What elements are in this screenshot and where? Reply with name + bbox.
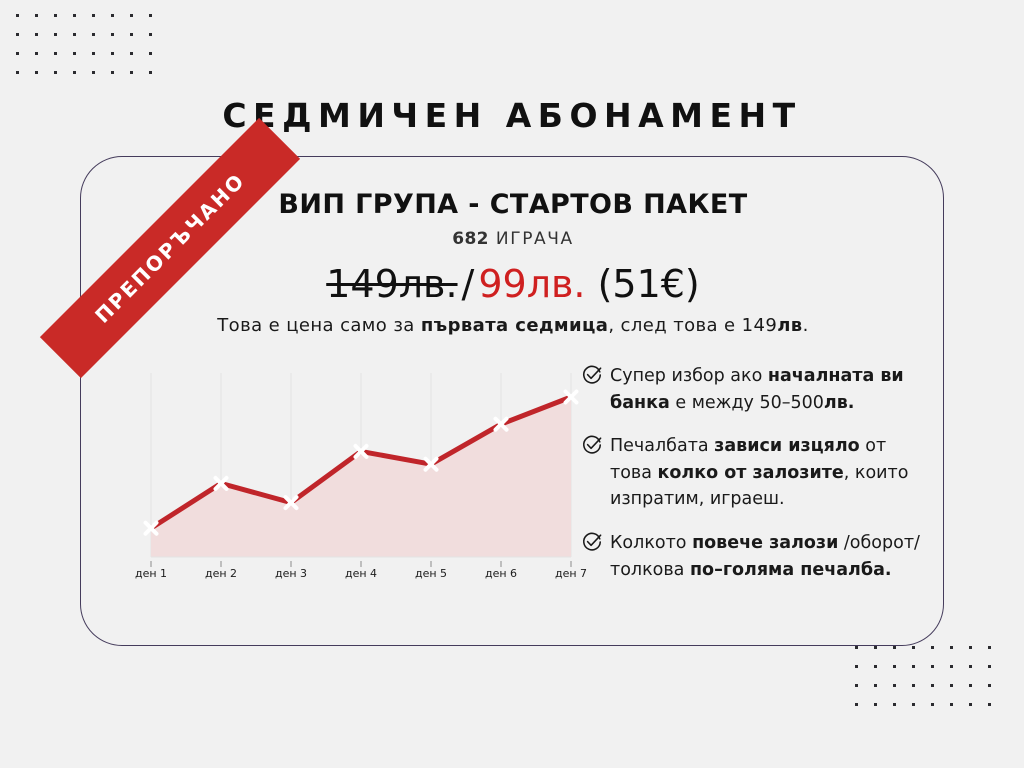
decorative-dot xyxy=(931,684,934,687)
decorative-dot xyxy=(912,665,915,668)
price-euro: (51€) xyxy=(598,262,700,306)
feature-item: Печалбата зависи изцяло от това колко от… xyxy=(581,433,921,513)
decorative-dot xyxy=(950,684,953,687)
decorative-dot xyxy=(16,71,19,74)
decorative-dot xyxy=(54,33,57,36)
price-note-bold1: първата седмица xyxy=(421,315,608,336)
price-note: Това е цена само за първата седмица, сле… xyxy=(81,315,945,336)
circled-check-icon xyxy=(581,531,603,553)
decorative-dot xyxy=(931,703,934,706)
price-new: 99лв. xyxy=(478,262,585,306)
chart-x-label: ден 5 xyxy=(415,567,447,580)
chart-x-label: ден 4 xyxy=(345,567,377,580)
decorative-dot xyxy=(893,665,896,668)
feature-text: Супер избор ако началната ви банка е меж… xyxy=(610,363,921,416)
feature-text-emphasis: лв. xyxy=(824,393,855,413)
feature-text-emphasis: колко от залозите xyxy=(658,463,844,483)
decorative-dot xyxy=(855,665,858,668)
decorative-dot xyxy=(130,52,133,55)
card-title: ВИП ГРУПА - СТАРТОВ ПАКЕТ xyxy=(81,189,945,220)
decorative-dot xyxy=(73,14,76,17)
decorative-dot xyxy=(969,684,972,687)
decorative-dot xyxy=(35,52,38,55)
decorative-dot xyxy=(855,703,858,706)
decorative-dot xyxy=(874,684,877,687)
decorative-dot xyxy=(54,52,57,55)
decorative-dot xyxy=(874,665,877,668)
decorative-dot xyxy=(931,665,934,668)
decorative-dot xyxy=(16,52,19,55)
decorative-dot xyxy=(931,646,934,649)
decorative-dot xyxy=(35,33,38,36)
price-note-part2: , след това е 149 xyxy=(608,315,777,336)
price-row: 149лв./99лв. (51€) xyxy=(81,262,945,306)
growth-chart-svg xyxy=(129,371,589,571)
decorative-dot xyxy=(893,703,896,706)
decorative-dot xyxy=(35,14,38,17)
decorative-dot xyxy=(92,14,95,17)
decorative-dot xyxy=(893,646,896,649)
circled-check-icon xyxy=(581,364,603,386)
decorative-dot xyxy=(855,684,858,687)
decorative-dot xyxy=(149,33,152,36)
decorative-dot xyxy=(969,646,972,649)
decorative-dot xyxy=(988,684,991,687)
decorative-dot xyxy=(16,14,19,17)
decorative-dot xyxy=(130,14,133,17)
feature-text-emphasis: по–голяма печалба. xyxy=(690,560,892,580)
decorative-dot xyxy=(111,52,114,55)
pricing-card: ПРЕПОРЪЧАНО ВИП ГРУПА - СТАРТОВ ПАКЕТ 68… xyxy=(80,156,944,646)
feature-list: Супер избор ако началната ви банка е меж… xyxy=(581,363,921,600)
feature-text-emphasis: зависи изцяло xyxy=(714,436,860,456)
decorative-dot xyxy=(988,703,991,706)
decorative-dot xyxy=(149,14,152,17)
decorative-dot xyxy=(950,703,953,706)
decorative-dot xyxy=(893,684,896,687)
feature-text-plain: Печалбата xyxy=(610,436,714,456)
decorative-dot xyxy=(111,71,114,74)
feature-text-plain: Супер избор ако xyxy=(610,366,768,386)
chart-x-label: ден 3 xyxy=(275,567,307,580)
decorative-dot xyxy=(874,646,877,649)
decorative-dot xyxy=(874,703,877,706)
decorative-dot xyxy=(111,14,114,17)
decorative-dot xyxy=(130,33,133,36)
chart-x-label: ден 6 xyxy=(485,567,517,580)
feature-text: Печалбата зависи изцяло от това колко от… xyxy=(610,433,921,513)
feature-text: Колкото повече залози /оборот/ толкова п… xyxy=(610,530,921,583)
decorative-dot xyxy=(54,71,57,74)
price-note-bold2: лв xyxy=(777,315,802,336)
decorative-dot xyxy=(54,14,57,17)
decorative-dot xyxy=(988,665,991,668)
decorative-dot xyxy=(73,52,76,55)
decorative-dot xyxy=(130,71,133,74)
price-note-part3: . xyxy=(803,315,809,336)
chart-x-label: ден 1 xyxy=(135,567,167,580)
decorative-dot xyxy=(149,71,152,74)
circled-check-icon xyxy=(581,434,603,456)
price-old: 149лв. xyxy=(326,262,457,306)
feature-item: Колкото повече залози /оборот/ толкова п… xyxy=(581,530,921,583)
decorative-dot xyxy=(73,71,76,74)
decorative-dot xyxy=(855,646,858,649)
decorative-dot xyxy=(149,52,152,55)
decorative-dot xyxy=(92,71,95,74)
card-subtitle: 682 ИГРАЧА xyxy=(81,229,945,249)
feature-text-emphasis: повече залози xyxy=(692,533,838,553)
chart-x-label: ден 2 xyxy=(205,567,237,580)
player-count-label: ИГРАЧА xyxy=(489,229,574,249)
decorative-dot xyxy=(73,33,76,36)
decorative-dot-grid-bottom-right xyxy=(855,646,1007,722)
player-count: 682 xyxy=(452,229,489,249)
decorative-dot xyxy=(92,33,95,36)
decorative-dot xyxy=(16,33,19,36)
chart-x-axis-labels: ден 1ден 2ден 3ден 4ден 5ден 6ден 7 xyxy=(129,567,589,587)
feature-text-plain: е между 50–500 xyxy=(670,393,824,413)
decorative-dot-grid-top-left xyxy=(16,14,168,90)
decorative-dot xyxy=(912,646,915,649)
decorative-dot xyxy=(912,703,915,706)
decorative-dot xyxy=(988,646,991,649)
page-title: СЕДМИЧЕН АБОНАМЕНТ xyxy=(0,96,1024,135)
feature-item: Супер избор ако началната ви банка е меж… xyxy=(581,363,921,416)
decorative-dot xyxy=(950,646,953,649)
decorative-dot xyxy=(969,665,972,668)
decorative-dot xyxy=(912,684,915,687)
price-note-part1: Това е цена само за xyxy=(217,315,421,336)
decorative-dot xyxy=(35,71,38,74)
feature-text-plain: Колкото xyxy=(610,533,692,553)
decorative-dot xyxy=(111,33,114,36)
price-separator: / xyxy=(458,262,479,306)
growth-chart: ден 1ден 2ден 3ден 4ден 5ден 6ден 7 xyxy=(129,371,589,591)
decorative-dot xyxy=(92,52,95,55)
decorative-dot xyxy=(969,703,972,706)
decorative-dot xyxy=(950,665,953,668)
